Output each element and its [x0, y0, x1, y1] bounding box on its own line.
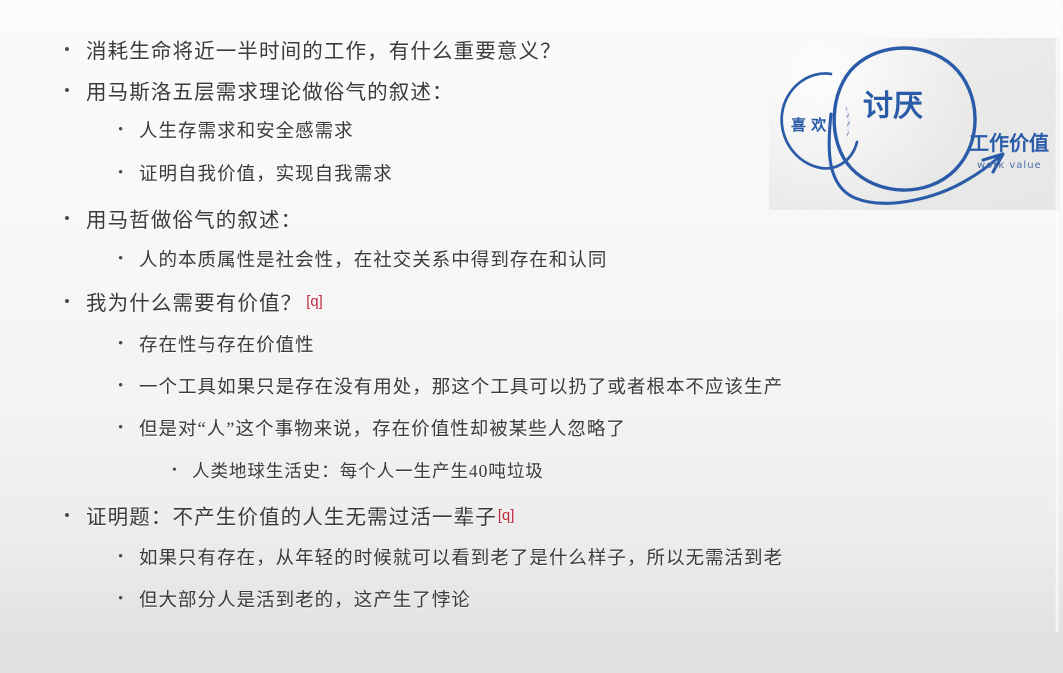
bullet-text: 用马哲做俗气的叙述：	[86, 203, 302, 233]
bullet-marker-icon: •	[172, 464, 192, 478]
bullet-text: 如果只有存在，从年轻的时候就可以看到老了是什么样子，所以无需活到老	[139, 544, 783, 570]
bullet-item-level2: •如果只有存在，从年轻的时候就可以看到老了是什么样子，所以无需活到老	[118, 544, 783, 570]
bullet-text: 证明题：不产生价值的人生无需过活一辈子	[86, 500, 497, 530]
bullet-text: 我为什么需要有价值？	[86, 286, 302, 316]
venn-arrow-label-cn: 工作价值	[969, 131, 1049, 155]
bullet-item-level1: •我为什么需要有价值？[q]	[64, 286, 323, 316]
bullet-marker-icon: •	[64, 41, 86, 58]
bullet-item-level2: •但是对“人”这个事物来说，存在价值性却被某些人忽略了	[118, 415, 626, 441]
bullet-item-level1: •用马斯洛五层需求理论做俗气的叙述：	[64, 75, 454, 105]
hand-drawn-venn-diagram-image: 喜 欢 讨厌 工作价值 work value	[769, 38, 1059, 210]
bullet-marker-icon: •	[118, 123, 139, 138]
bullet-item-level2: •但大部分人是活到老的，这产生了悖论	[118, 586, 471, 612]
bullet-text: 一个工具如果只是存在没有用处，那这个工具可以扔了或者根本不应该生产	[139, 373, 783, 399]
bullet-marker-icon: •	[64, 82, 86, 99]
venn-arrow-label-en: work value	[977, 160, 1042, 171]
venn-small-circle-label: 喜 欢	[791, 116, 827, 134]
bullet-item-level2: •一个工具如果只是存在没有用处，那这个工具可以扔了或者根本不应该生产	[118, 373, 783, 399]
bullet-marker-icon: •	[118, 252, 139, 267]
bullet-marker-icon: •	[64, 507, 86, 524]
bullet-item-level2: •人生存需求和安全感需求	[118, 117, 354, 143]
bullet-item-level3: •人类地球生活史：每个人一生产生40吨垃圾	[172, 458, 544, 483]
bullet-item-level2: •证明自我价值，实现自我需求	[118, 160, 393, 186]
question-marker-badge[interactable]: [q]	[498, 508, 514, 524]
bullet-marker-icon: •	[118, 166, 139, 181]
slide-canvas: •消耗生命将近一半时间的工作，有什么重要意义？•用马斯洛五层需求理论做俗气的叙述…	[0, 0, 1063, 673]
bullet-item-level2: •人的本质属性是社会性，在社交关系中得到存在和认同	[118, 246, 607, 272]
bullet-marker-icon: •	[118, 421, 139, 436]
bullet-text: 人的本质属性是社会性，在社交关系中得到存在和认同	[139, 246, 607, 272]
bullet-text: 但是对“人”这个事物来说，存在价值性却被某些人忽略了	[139, 415, 626, 441]
bullet-marker-icon: •	[64, 210, 86, 227]
question-marker-badge[interactable]: [q]	[306, 294, 322, 310]
bullet-item-level1: •消耗生命将近一半时间的工作，有什么重要意义？	[64, 34, 562, 64]
bullet-text: 人类地球生活史：每个人一生产生40吨垃圾	[192, 458, 544, 483]
bullet-text: 证明自我价值，实现自我需求	[139, 160, 393, 186]
venn-large-circle-label: 讨厌	[863, 89, 923, 124]
bullet-item-level2: •存在性与存在价值性	[118, 331, 315, 357]
bullet-text: 人生存需求和安全感需求	[139, 117, 354, 143]
bullet-text: 但大部分人是活到老的，这产生了悖论	[139, 586, 471, 612]
bullet-text: 用马斯洛五层需求理论做俗气的叙述：	[86, 75, 454, 105]
bullet-item-level1: •证明题：不产生价值的人生无需过活一辈子[q]	[64, 500, 514, 530]
bullet-item-level1: •用马哲做俗气的叙述：	[64, 203, 302, 233]
bullet-text: 存在性与存在价值性	[139, 331, 315, 357]
bullet-text: 消耗生命将近一半时间的工作，有什么重要意义？	[86, 34, 562, 64]
bullet-marker-icon: •	[118, 337, 139, 352]
bullet-marker-icon: •	[64, 293, 86, 310]
bullet-marker-icon: •	[118, 379, 139, 394]
bullet-marker-icon: •	[118, 592, 139, 607]
bullet-marker-icon: •	[118, 550, 139, 565]
